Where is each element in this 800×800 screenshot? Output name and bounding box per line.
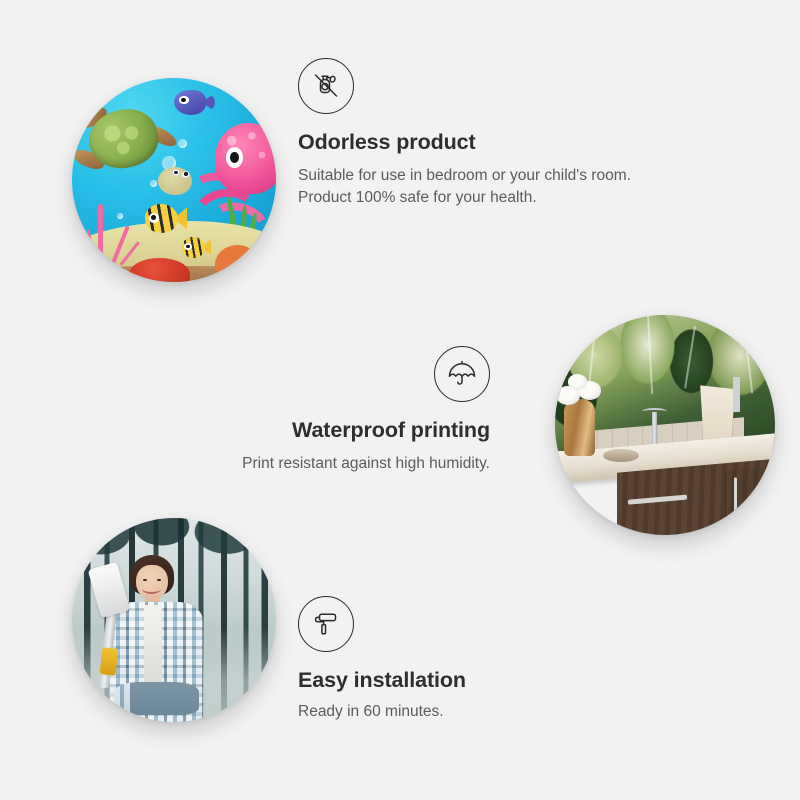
feature-description: Print resistant against high humidity. xyxy=(150,453,490,475)
white-flowers xyxy=(555,372,610,407)
feature-description: Ready in 60 minutes. xyxy=(298,701,628,723)
umbrella-icon xyxy=(434,346,490,402)
forest-scene-art xyxy=(72,518,276,722)
feature-description: Suitable for use in bedroom or your chil… xyxy=(298,165,678,210)
yellow-striped-fish-icon xyxy=(182,237,211,257)
underwater-scene-art xyxy=(72,78,276,282)
woman-figure xyxy=(101,555,215,722)
feature-title: Easy installation xyxy=(298,668,628,694)
feature-odorless: Odorless product Suitable for use in bed… xyxy=(298,58,678,210)
feature-title: Odorless product xyxy=(298,130,678,156)
underwater-cartoon-wallpaper-photo xyxy=(72,78,276,282)
soap-dispenser xyxy=(733,377,740,412)
yellow-striped-fish-icon xyxy=(145,204,186,233)
paint-roller-grip xyxy=(99,648,118,676)
bathroom-tropical-leaf-wallpaper-photo xyxy=(555,315,775,535)
pink-coral-icon xyxy=(72,192,137,265)
feature-install: Easy installation Ready in 60 minutes. xyxy=(298,596,628,723)
sea-turtle-icon xyxy=(80,107,194,201)
bathroom-scene-art xyxy=(555,315,775,535)
starfish-icon xyxy=(215,245,260,278)
feature-highlights-panel: Odorless product Suitable for use in bed… xyxy=(0,0,800,800)
feature-title: Waterproof printing xyxy=(150,418,490,444)
feature-waterproof: Waterproof printing Print resistant agai… xyxy=(150,346,490,475)
no-odor-perfume-bottle-icon xyxy=(298,58,354,114)
paint-roller-icon xyxy=(298,596,354,652)
woman-with-paint-roller-forest-wallpaper-photo xyxy=(72,518,276,722)
sink-faucet xyxy=(652,412,658,447)
